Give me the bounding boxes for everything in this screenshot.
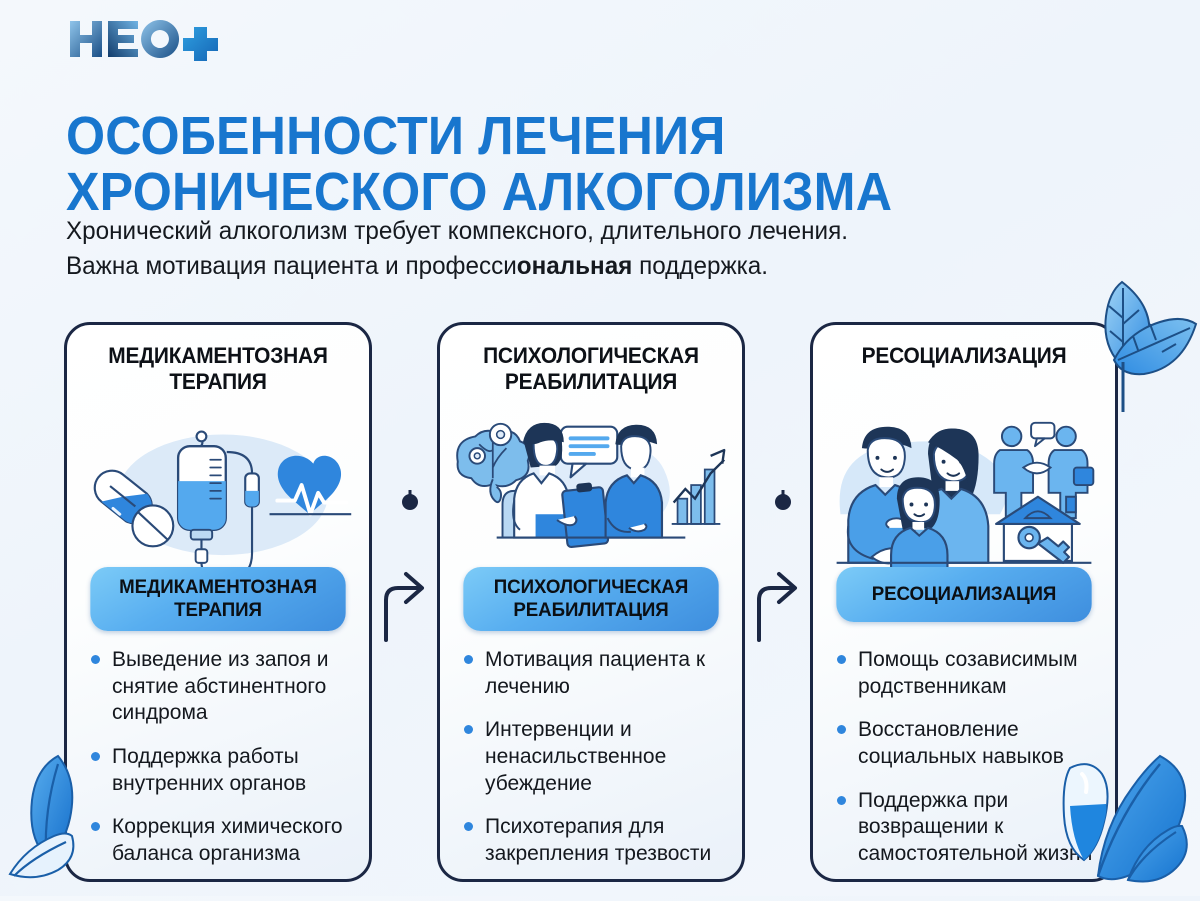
list-item: Восстановление социальных навыков	[835, 717, 1101, 770]
bullet-dot-icon	[464, 822, 473, 831]
subtitle-line2-bold: ональная	[517, 252, 633, 280]
bullet-dot-icon	[91, 822, 100, 831]
subtitle-line-2: Важна мотивация пациента и профессиональ…	[66, 249, 1085, 284]
family-handshake-house-key-icon	[823, 403, 1105, 571]
subtitle-line-1: Хронический алкоголизм требует компексно…	[66, 214, 1085, 249]
bullet-dot-icon	[91, 655, 100, 664]
list-item: Поддержка работы внутренних органов	[89, 744, 355, 797]
bullet-dot-icon	[837, 725, 846, 734]
bullet-dot-icon	[464, 725, 473, 734]
card-1-title: МЕДИКАМЕНТОЗНАЯ ТЕРАПИЯ	[82, 343, 354, 396]
neo-plus-logo-icon	[68, 17, 228, 61]
list-item: Помощь созависимым родственникам	[835, 647, 1101, 700]
bullet-dot-icon	[837, 655, 846, 664]
infographic-page: ОСОБЕННОСТИ ЛЕЧЕНИЯ ХРОНИЧЕСКОГО АЛКОГОЛ…	[0, 0, 1200, 896]
page-title-line1: ОСОБЕННОСТИ ЛЕЧЕНИЯ	[66, 106, 726, 166]
list-item-label: Коррекция химического баланса организма	[112, 815, 343, 865]
list-item-label: Восстановление социальных навыков	[858, 718, 1064, 768]
list-item: Мотивация пациента к лечению	[462, 647, 728, 700]
card-3-title: РЕСОЦИАЛИЗАЦИЯ	[828, 343, 1100, 369]
therapy-session-brain-gears-growth-chart-icon	[450, 403, 732, 571]
bullet-dot-icon	[464, 655, 473, 664]
card-1-badge[interactable]: МЕДИКАМЕНТОЗНАЯ ТЕРАПИЯ	[90, 567, 345, 631]
card-resocializaciya[interactable]: РЕСОЦИАЛИЗАЦИЯ	[810, 322, 1118, 882]
card-psihologicheskaya-reabilitaciya[interactable]: ПСИХОЛОГИЧЕСКАЯ РЕАБИЛИТАЦИЯ	[437, 322, 745, 882]
card-medikamentoznaya-terapiya[interactable]: МЕДИКАМЕНТОЗНАЯ ТЕРАПИЯ	[64, 322, 372, 882]
list-item: Поддержка при возвращении к самостоятель…	[835, 788, 1101, 868]
list-item: Психотерапия для закрепления трезвости	[462, 814, 728, 867]
list-item-label: Мотивация пациента к лечению	[485, 648, 705, 698]
list-item: Коррекция химического баланса организма	[89, 814, 355, 867]
page-subtitle: Хронический алкоголизм требует компексно…	[66, 214, 1085, 283]
list-item-label: Интервенции и ненасильственное убеждение	[485, 718, 666, 794]
list-item-label: Поддержка работы внутренних органов	[112, 745, 306, 795]
list-item-label: Помощь созависимым родственникам	[858, 648, 1078, 698]
card-2-bullets: Мотивация пациента к лечению Интервенции…	[462, 647, 728, 868]
list-item-label: Психотерапия для закрепления трезвости	[485, 815, 711, 865]
card-3-badge[interactable]: РЕСОЦИАЛИЗАЦИЯ	[836, 567, 1091, 622]
subtitle-line2-plain: Важна мотивация пациента и професси	[66, 252, 517, 280]
list-item: Интервенции и ненасильственное убеждение	[462, 717, 728, 797]
bullet-dot-icon	[91, 752, 100, 761]
pills-iv-drip-heart-ecg-icon	[77, 403, 359, 571]
treatment-stage-cards: МЕДИКАМЕНТОЗНАЯ ТЕРАПИЯ	[0, 322, 1200, 884]
list-item-label: Поддержка при возвращении к самостоятель…	[858, 789, 1092, 865]
card-1-bullets: Выведение из запоя и снятие абстинентног…	[89, 647, 355, 868]
card-3-bullets: Помощь созависимым родственникам Восстан…	[835, 647, 1101, 868]
brand-logo	[68, 18, 228, 60]
list-item: Выведение из запоя и снятие абстинентног…	[89, 647, 355, 727]
page-title-line2: ХРОНИЧЕСКОГО АЛКОГОЛИЗМА	[66, 164, 1061, 220]
list-item-label: Выведение из запоя и снятие абстинентног…	[112, 648, 329, 724]
page-title: ОСОБЕННОСТИ ЛЕЧЕНИЯ ХРОНИЧЕСКОГО АЛКОГОЛ…	[66, 108, 1061, 220]
bullet-dot-icon	[837, 796, 846, 805]
card-2-title: ПСИХОЛОГИЧЕСКАЯ РЕАБИЛИТАЦИЯ	[455, 343, 727, 396]
subtitle-line2-tail: поддержка.	[632, 252, 768, 280]
card-2-badge[interactable]: ПСИХОЛОГИЧЕСКАЯ РЕАБИЛИТАЦИЯ	[463, 567, 718, 631]
